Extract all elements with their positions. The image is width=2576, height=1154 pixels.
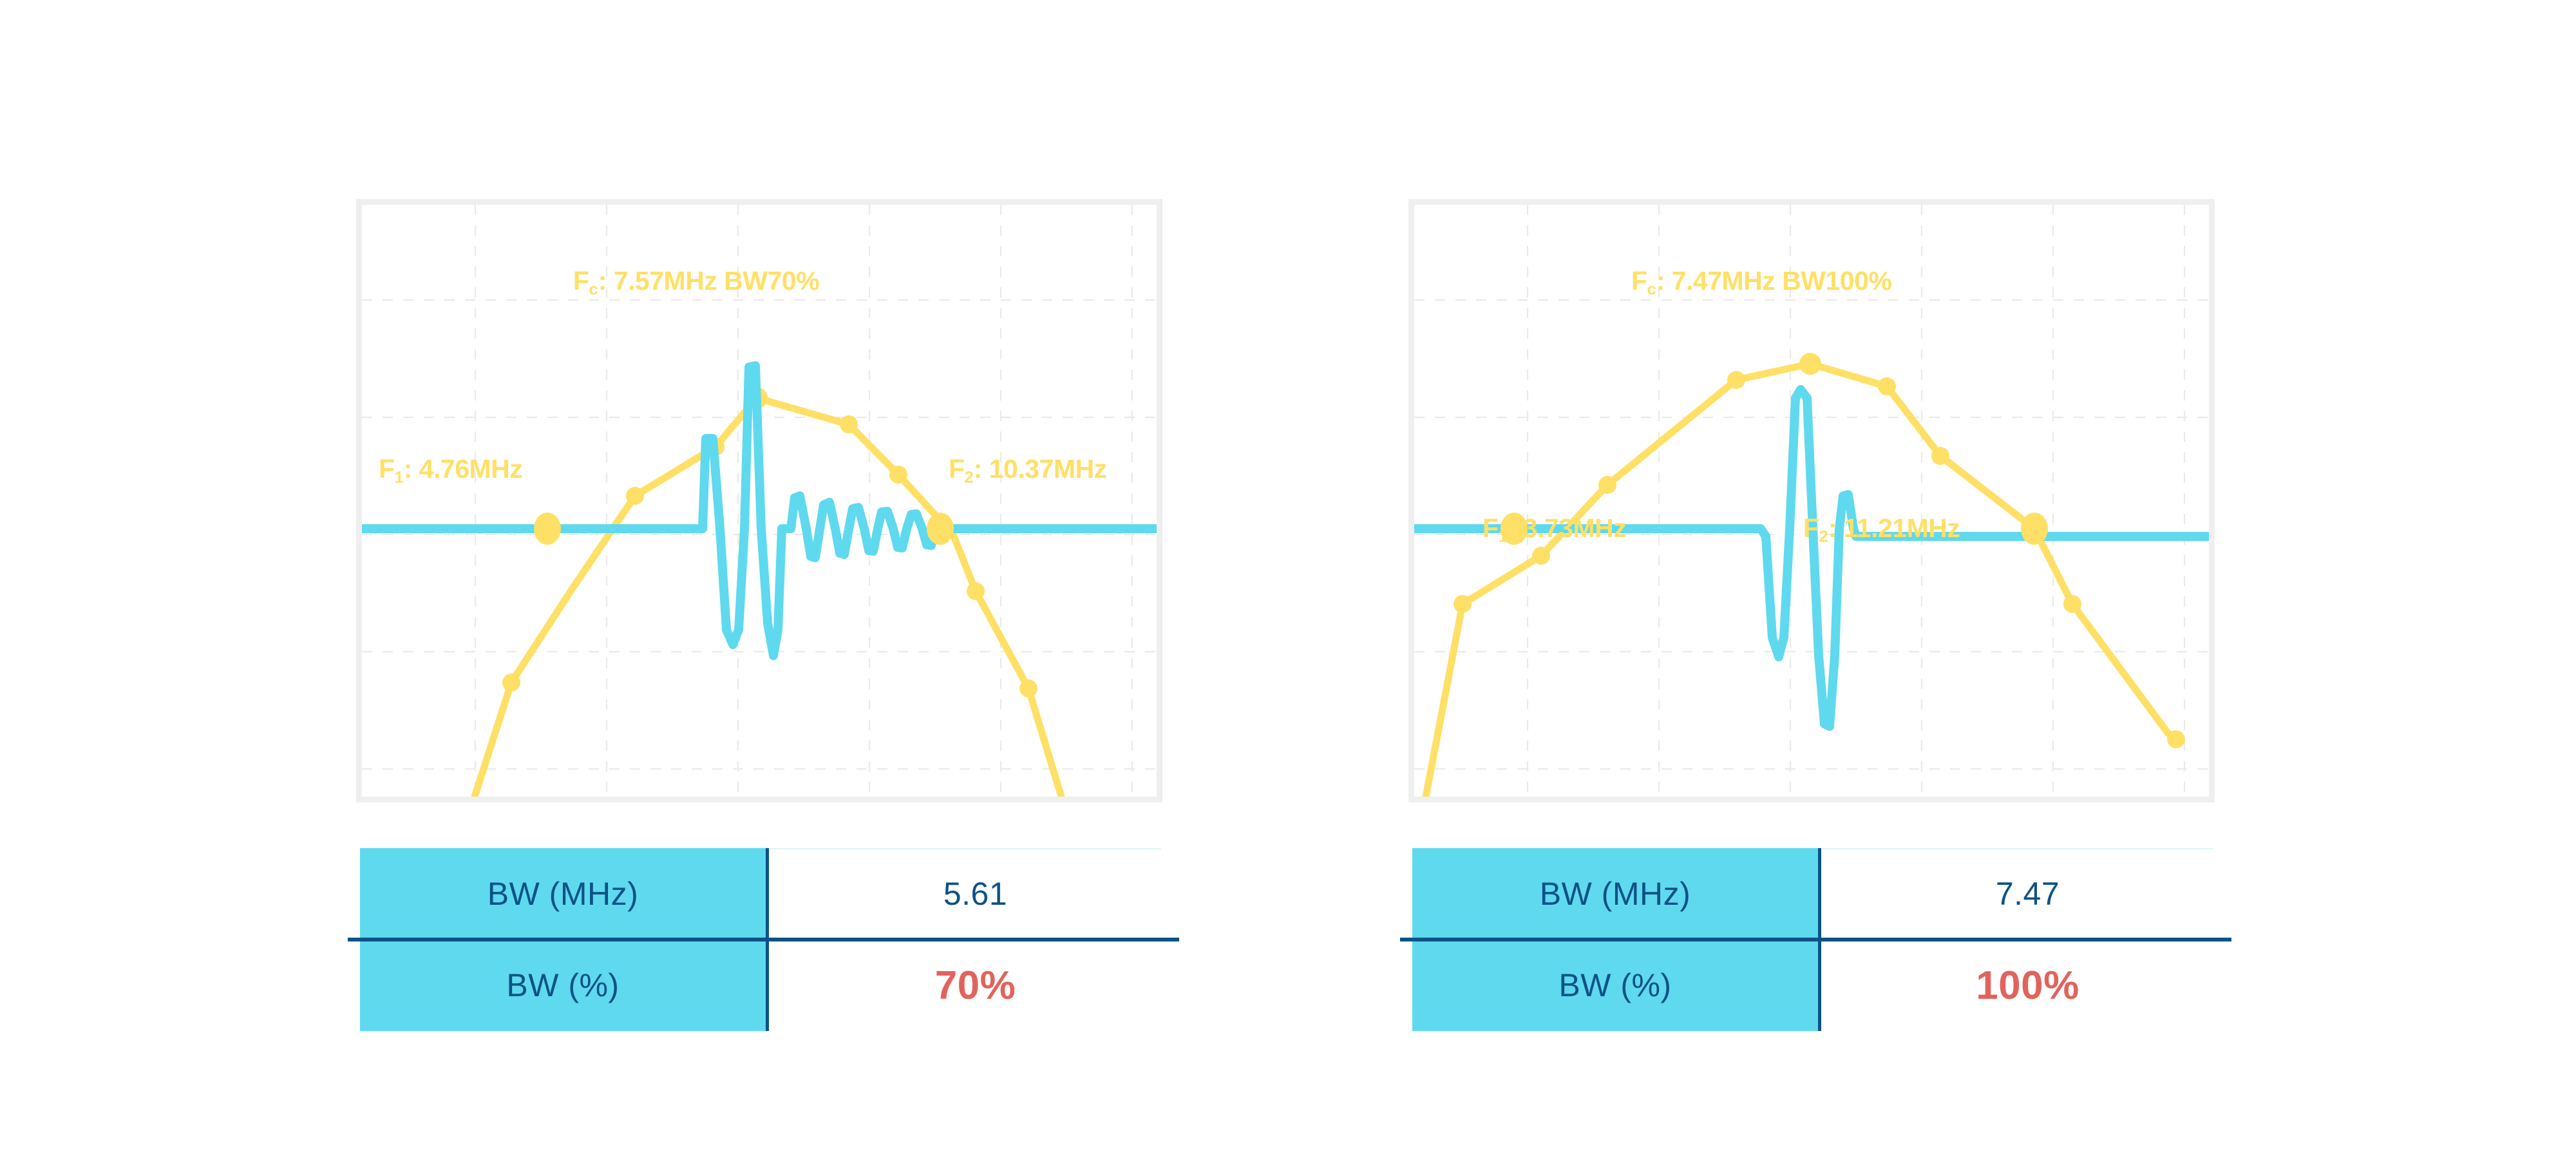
f2-text: : 10.37MHz xyxy=(974,454,1107,484)
fc-subscript: c xyxy=(589,281,598,299)
f2-symbol: F xyxy=(1803,513,1819,543)
annotation-f2-right: F2: 11.21MHz xyxy=(1803,515,1960,545)
row-value-cell: 7.47 xyxy=(1818,848,2237,940)
figure-canvas: Fc: 7.57MHz BW70% F1: 4.76MHz F2: 10.37M… xyxy=(0,0,2576,1154)
fc-symbol: F xyxy=(1631,266,1647,296)
f1-text: : 3.73MHz xyxy=(1508,513,1627,543)
f1-marker xyxy=(534,513,561,545)
f1-subscript: 1 xyxy=(395,469,404,487)
annotation-f2-left: F2: 10.37MHz xyxy=(949,456,1107,486)
table-row: BW (MHz) 7.47 xyxy=(1412,848,2237,940)
row-label-bw-mhz: BW (MHz) xyxy=(1412,848,1818,940)
f2-text: : 11.21MHz xyxy=(1828,513,1960,543)
table-row: BW (%) 100% xyxy=(1412,940,2237,1031)
f2-marker xyxy=(2021,513,2048,545)
chart-panel-right: Fc: 7.47MHz BW100% F1: 3.73MHz F2: 11.21… xyxy=(1408,199,2215,802)
row-value-cell: 5.61 xyxy=(766,848,1185,940)
spectrum-curve xyxy=(1426,364,2176,797)
fc-text: : 7.47MHz BW100% xyxy=(1656,266,1892,296)
bw-table-right: BW (MHz) 7.47 BW (%) 100% xyxy=(1412,848,2237,1031)
table-row: BW (MHz) 5.61 xyxy=(360,848,1185,940)
annotation-fc-left: Fc: 7.57MHz BW70% xyxy=(573,268,819,298)
row-label-bw-pct: BW (%) xyxy=(360,940,766,1031)
row-value-cell: 70% xyxy=(766,940,1185,1031)
annotation-f1-left: F1: 4.76MHz xyxy=(379,456,522,486)
f2-symbol: F xyxy=(949,454,965,484)
fc-subscript: c xyxy=(1647,281,1656,299)
annotation-f1-right: F1: 3.73MHz xyxy=(1482,515,1626,545)
f2-subscript: 2 xyxy=(965,469,974,487)
row-label-bw-pct: BW (%) xyxy=(1412,940,1818,1031)
bw-mhz-value: 7.47 xyxy=(1996,875,2060,913)
f1-text: : 4.76MHz xyxy=(404,454,523,484)
bw-mhz-value: 5.61 xyxy=(943,875,1007,913)
fc-text: : 7.57MHz BW70% xyxy=(598,266,819,296)
annotation-fc-right: Fc: 7.47MHz BW100% xyxy=(1631,268,1891,298)
chart-panel-left: Fc: 7.57MHz BW70% F1: 4.76MHz F2: 10.37M… xyxy=(356,199,1162,802)
f2-marker xyxy=(927,513,954,545)
fc-symbol: F xyxy=(573,266,589,296)
pulse-waveform xyxy=(362,366,1157,656)
table-row: BW (%) 70% xyxy=(360,940,1185,1031)
f1-symbol: F xyxy=(379,454,395,484)
f1-subscript: 1 xyxy=(1499,528,1508,546)
bw-pct-value: 70% xyxy=(935,963,1016,1008)
row-label-bw-mhz: BW (MHz) xyxy=(360,848,766,940)
bw-pct-value: 100% xyxy=(1976,963,2079,1008)
row-value-cell: 100% xyxy=(1818,940,2237,1031)
bw-table-left: BW (MHz) 5.61 BW (%) 70% xyxy=(360,848,1185,1031)
f2-subscript: 2 xyxy=(1819,528,1828,546)
table-row-divider xyxy=(348,938,1179,941)
table-row-divider xyxy=(1400,938,2231,941)
f1-symbol: F xyxy=(1482,513,1499,543)
